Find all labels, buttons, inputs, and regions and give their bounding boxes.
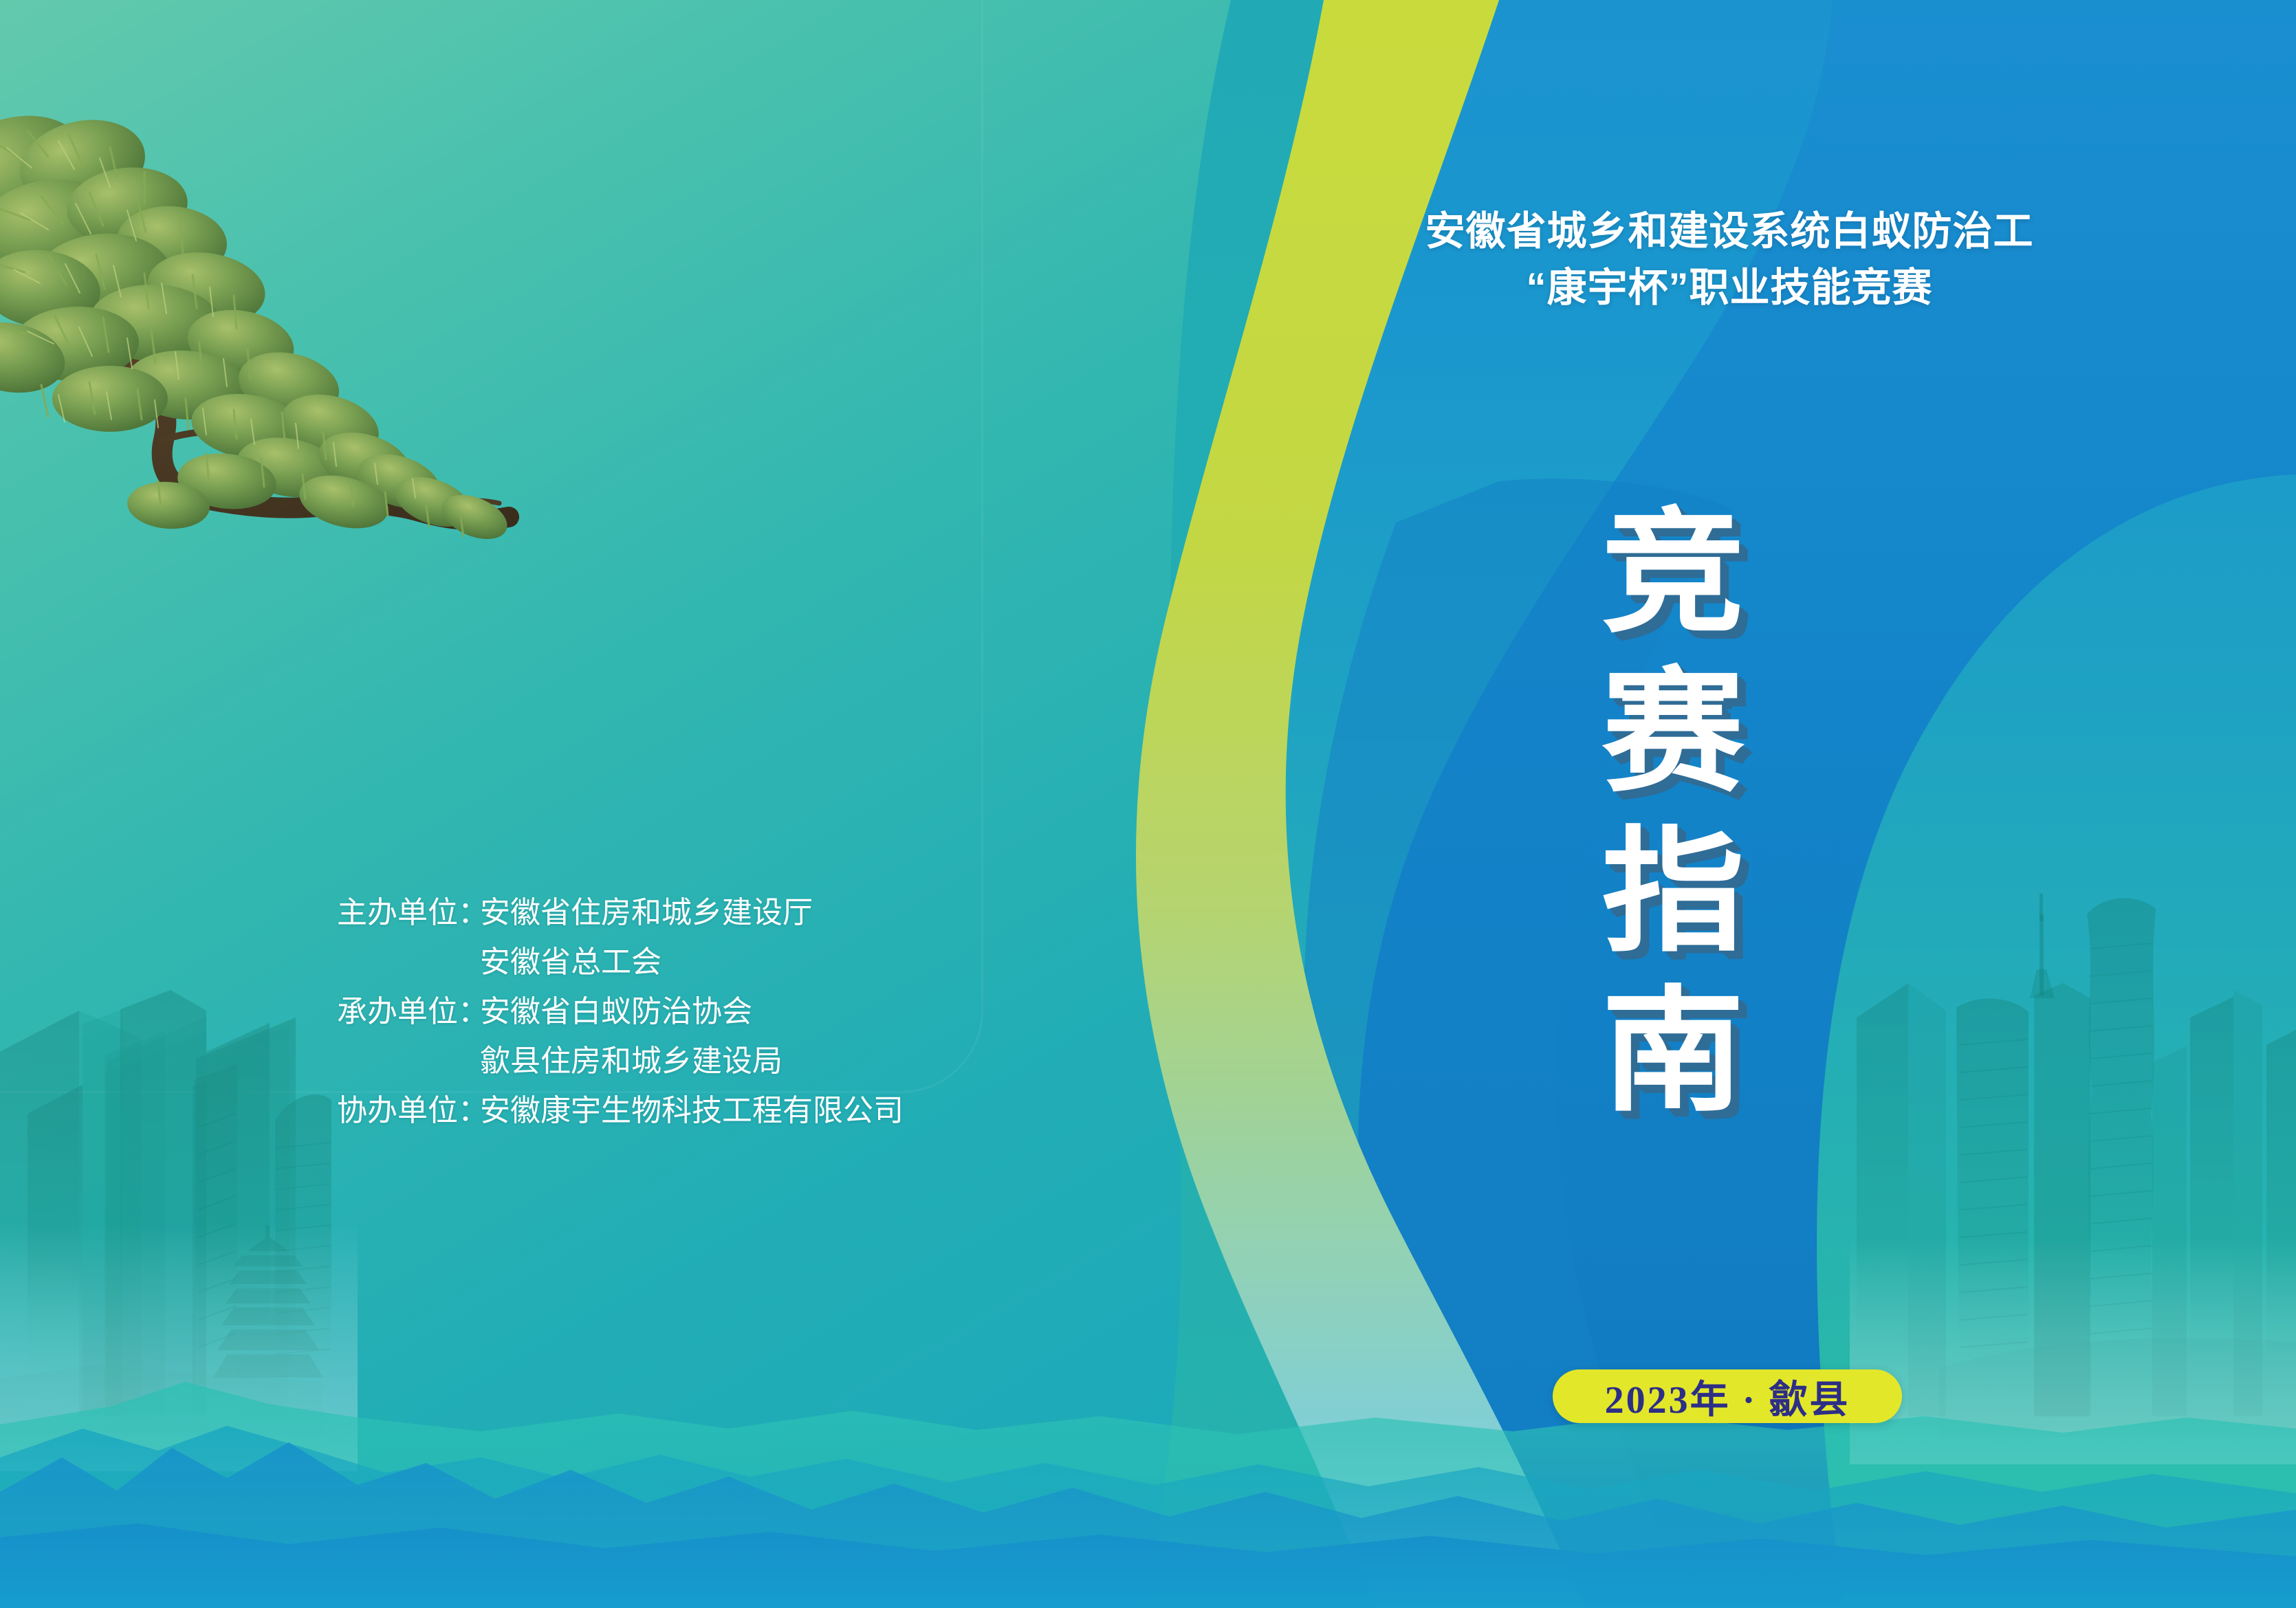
organizer-value: 安徽省总工会 — [480, 938, 662, 987]
year-location-badge: 2023年 · 歙县 — [1553, 1369, 1902, 1423]
header-title-line-2: “康宇杯”职业技能竞赛 — [1372, 260, 2087, 316]
organizer-label: 承办单位： — [337, 987, 480, 1037]
organizer-value: 歙县住房和城乡建设局 — [480, 1037, 783, 1086]
organizer-label: 主办单位： — [337, 888, 480, 938]
year-location-text: 2023年 · 歙县 — [1605, 1369, 1850, 1424]
main-title-char-4: 南 — [1601, 972, 1745, 1132]
organizer-value: 安徽省白蚁防治协会 — [480, 987, 752, 1037]
main-title-vertical: 竞 赛 指 南 — [1606, 494, 1740, 1132]
main-title-char-3: 指 — [1601, 813, 1745, 972]
organizer-row: 主办单位： 安徽省住房和城乡建设厅 — [337, 888, 904, 938]
organizer-row: 承办单位： 安徽省白蚁防治协会 — [337, 987, 904, 1037]
organizer-label: 协办单位： — [337, 1086, 480, 1136]
main-title-char-1: 竞 — [1601, 494, 1745, 653]
organizer-list: 主办单位： 安徽省住房和城乡建设厅 主办单位： 安徽省总工会 承办单位： 安徽省… — [337, 888, 904, 1136]
header-title-line-1: 安徽省城乡和建设系统白蚁防治工 — [1372, 203, 2087, 260]
organizer-row: 承办单位： 歙县住房和城乡建设局 — [337, 1037, 904, 1086]
cover-page: 安徽省城乡和建设系统白蚁防治工 “康宇杯”职业技能竞赛 竞 赛 指 南 主办单位… — [0, 0, 2296, 1608]
organizer-value: 安徽省住房和城乡建设厅 — [480, 888, 813, 938]
organizer-value: 安徽康宇生物科技工程有限公司 — [480, 1086, 904, 1136]
organizer-row: 协办单位： 安徽康宇生物科技工程有限公司 — [337, 1086, 904, 1136]
pine-foliage — [0, 98, 514, 548]
organizer-row: 主办单位： 安徽省总工会 — [337, 938, 904, 987]
main-title-char-2: 赛 — [1601, 653, 1745, 813]
event-header-title: 安徽省城乡和建设系统白蚁防治工 “康宇杯”职业技能竞赛 — [1372, 203, 2087, 317]
